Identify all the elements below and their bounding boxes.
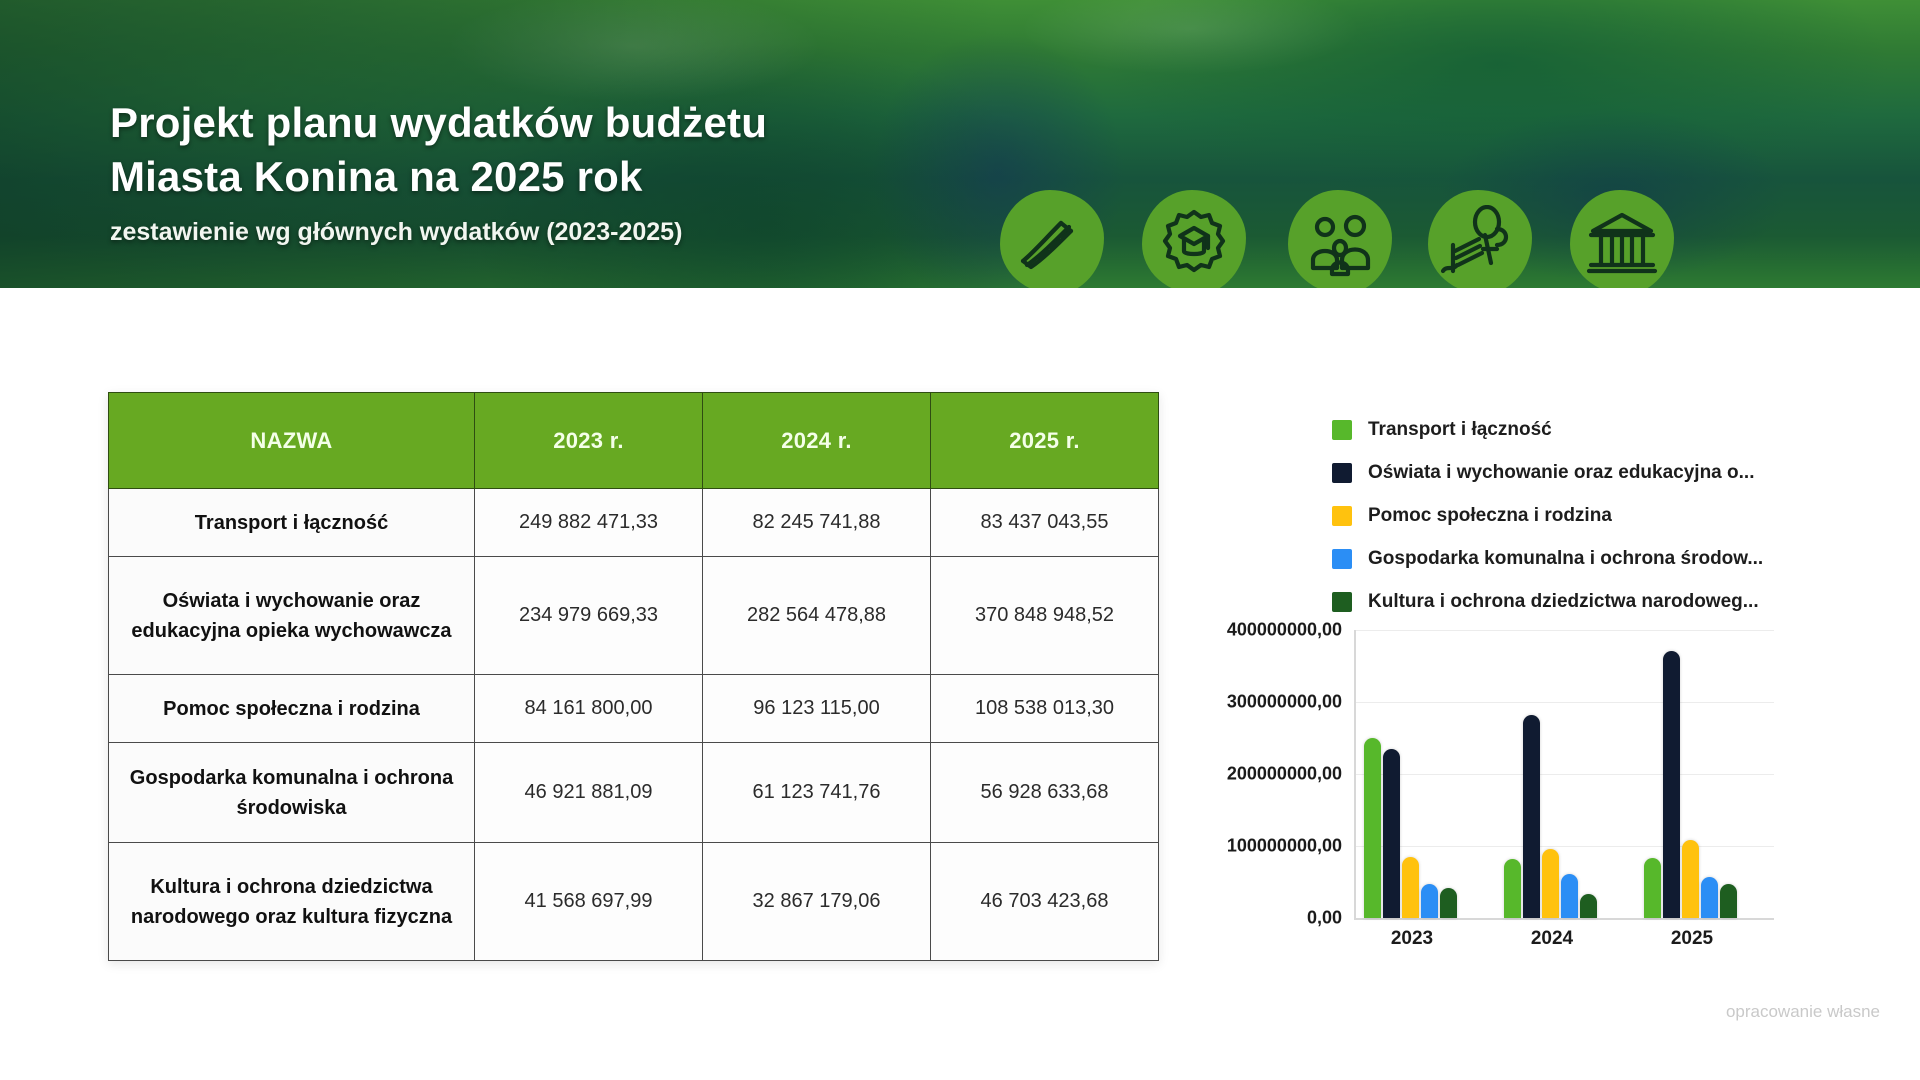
row-value-2023: 46 921 881,09 (475, 743, 703, 843)
x-axis-tick-label: 2023 (1391, 928, 1433, 950)
bar[interactable] (1561, 874, 1578, 918)
bar-group (1644, 630, 1737, 918)
bar[interactable] (1644, 858, 1661, 918)
museum-icon (1570, 190, 1674, 288)
y-axis: 0,00100000000,00200000000,00300000000,00… (1180, 630, 1354, 920)
row-name: Transport i łączność (109, 489, 475, 557)
bar[interactable] (1402, 857, 1419, 918)
x-axis-tick-label: 2025 (1671, 928, 1713, 950)
legend-label: Gospodarka komunalna i ochrona środow... (1368, 548, 1763, 570)
legend-item[interactable]: Kultura i ochrona dziedzictwa narodoweg.… (1332, 580, 1872, 623)
y-axis-tick-label: 300000000,00 (1227, 692, 1342, 713)
row-name: Kultura i ochrona dziedzictwa narodowego… (109, 843, 475, 961)
chart-plot: 0,00100000000,00200000000,00300000000,00… (1180, 630, 1880, 960)
bar[interactable] (1580, 894, 1597, 918)
budget-table: NAZWA 2023 r. 2024 r. 2025 r. Transport … (108, 392, 1159, 961)
legend-swatch (1332, 592, 1352, 612)
row-value-2024: 61 123 741,76 (703, 743, 931, 843)
table-row: Gospodarka komunalna i ochrona środowisk… (109, 743, 1159, 843)
table-row: Pomoc społeczna i rodzina 84 161 800,00 … (109, 675, 1159, 743)
column-header-name: NAZWA (109, 393, 475, 489)
row-value-2025: 370 848 948,52 (931, 557, 1159, 675)
y-axis-tick-label: 0,00 (1307, 908, 1342, 929)
row-value-2025: 46 703 423,68 (931, 843, 1159, 961)
table-row: Transport i łączność 249 882 471,33 82 2… (109, 489, 1159, 557)
road-icon (1000, 190, 1104, 288)
y-axis-tick-label: 400000000,00 (1227, 620, 1342, 641)
page-title-line-1: Projekt planu wydatków budżetu (110, 96, 1010, 150)
legend-label: Pomoc społeczna i rodzina (1368, 505, 1612, 527)
row-value-2024: 32 867 179,06 (703, 843, 931, 961)
row-value-2023: 234 979 669,33 (475, 557, 703, 675)
bar[interactable] (1421, 884, 1438, 918)
bar[interactable] (1682, 840, 1699, 918)
column-header-2025: 2025 r. (931, 393, 1159, 489)
row-value-2025: 108 538 013,30 (931, 675, 1159, 743)
header-icon-row (1000, 190, 1900, 288)
row-value-2023: 41 568 697,99 (475, 843, 703, 961)
budget-table-wrapper: NAZWA 2023 r. 2024 r. 2025 r. Transport … (108, 392, 1158, 961)
bar[interactable] (1542, 849, 1559, 918)
row-value-2025: 56 928 633,68 (931, 743, 1159, 843)
title-block: Projekt planu wydatków budżetu Miasta Ko… (110, 96, 1010, 248)
header-banner: Projekt planu wydatków budżetu Miasta Ko… (0, 0, 1920, 288)
legend-label: Kultura i ochrona dziedzictwa narodoweg.… (1368, 591, 1759, 613)
plot-area: 202320242025 (1354, 630, 1774, 920)
bar[interactable] (1364, 738, 1381, 918)
x-axis-baseline (1356, 918, 1774, 920)
row-name: Pomoc społeczna i rodzina (109, 675, 475, 743)
bar[interactable] (1663, 651, 1680, 918)
row-value-2024: 282 564 478,88 (703, 557, 931, 675)
row-value-2023: 84 161 800,00 (475, 675, 703, 743)
legend-swatch (1332, 549, 1352, 569)
slide-root: Projekt planu wydatków budżetu Miasta Ko… (0, 0, 1920, 1080)
legend-swatch (1332, 506, 1352, 526)
row-value-2023: 249 882 471,33 (475, 489, 703, 557)
x-axis-tick-label: 2024 (1531, 928, 1573, 950)
family-icon (1288, 190, 1392, 288)
bar[interactable] (1523, 715, 1540, 918)
bar[interactable] (1440, 888, 1457, 918)
legend-item[interactable]: Gospodarka komunalna i ochrona środow... (1332, 537, 1872, 580)
table-header-row: NAZWA 2023 r. 2024 r. 2025 r. (109, 393, 1159, 489)
park-bench-icon (1428, 190, 1532, 288)
bar[interactable] (1701, 877, 1718, 918)
column-header-2023: 2023 r. (475, 393, 703, 489)
bar[interactable] (1504, 859, 1521, 918)
table-row: Kultura i ochrona dziedzictwa narodowego… (109, 843, 1159, 961)
legend-swatch (1332, 420, 1352, 440)
row-value-2025: 83 437 043,55 (931, 489, 1159, 557)
legend-label: Oświata i wychowanie oraz edukacyjna o..… (1368, 462, 1754, 484)
source-note: opracowanie własne (1560, 1002, 1880, 1022)
chart-legend: Transport i łącznośćOświata i wychowanie… (1332, 408, 1872, 623)
bar-group (1364, 630, 1457, 918)
row-value-2024: 96 123 115,00 (703, 675, 931, 743)
y-axis-tick-label: 200000000,00 (1227, 764, 1342, 785)
bar[interactable] (1720, 884, 1737, 918)
table-row: Oświata i wychowanie oraz edukacyjna opi… (109, 557, 1159, 675)
row-value-2024: 82 245 741,88 (703, 489, 931, 557)
bar-chart-panel: Transport i łącznośćOświata i wychowanie… (1180, 400, 1880, 960)
bar-group (1504, 630, 1597, 918)
legend-item[interactable]: Oświata i wychowanie oraz edukacyjna o..… (1332, 451, 1872, 494)
education-gear-icon (1142, 190, 1246, 288)
legend-item[interactable]: Pomoc społeczna i rodzina (1332, 494, 1872, 537)
row-name: Oświata i wychowanie oraz edukacyjna opi… (109, 557, 475, 675)
column-header-2024: 2024 r. (703, 393, 931, 489)
bar[interactable] (1383, 749, 1400, 918)
y-axis-tick-label: 100000000,00 (1227, 836, 1342, 857)
legend-label: Transport i łączność (1368, 419, 1552, 441)
page-title-line-2: Miasta Konina na 2025 rok (110, 150, 1010, 204)
legend-swatch (1332, 463, 1352, 483)
row-name: Gospodarka komunalna i ochrona środowisk… (109, 743, 475, 843)
legend-item[interactable]: Transport i łączność (1332, 408, 1872, 451)
page-subtitle: zestawienie wg głównych wydatków (2023-2… (110, 216, 1010, 248)
